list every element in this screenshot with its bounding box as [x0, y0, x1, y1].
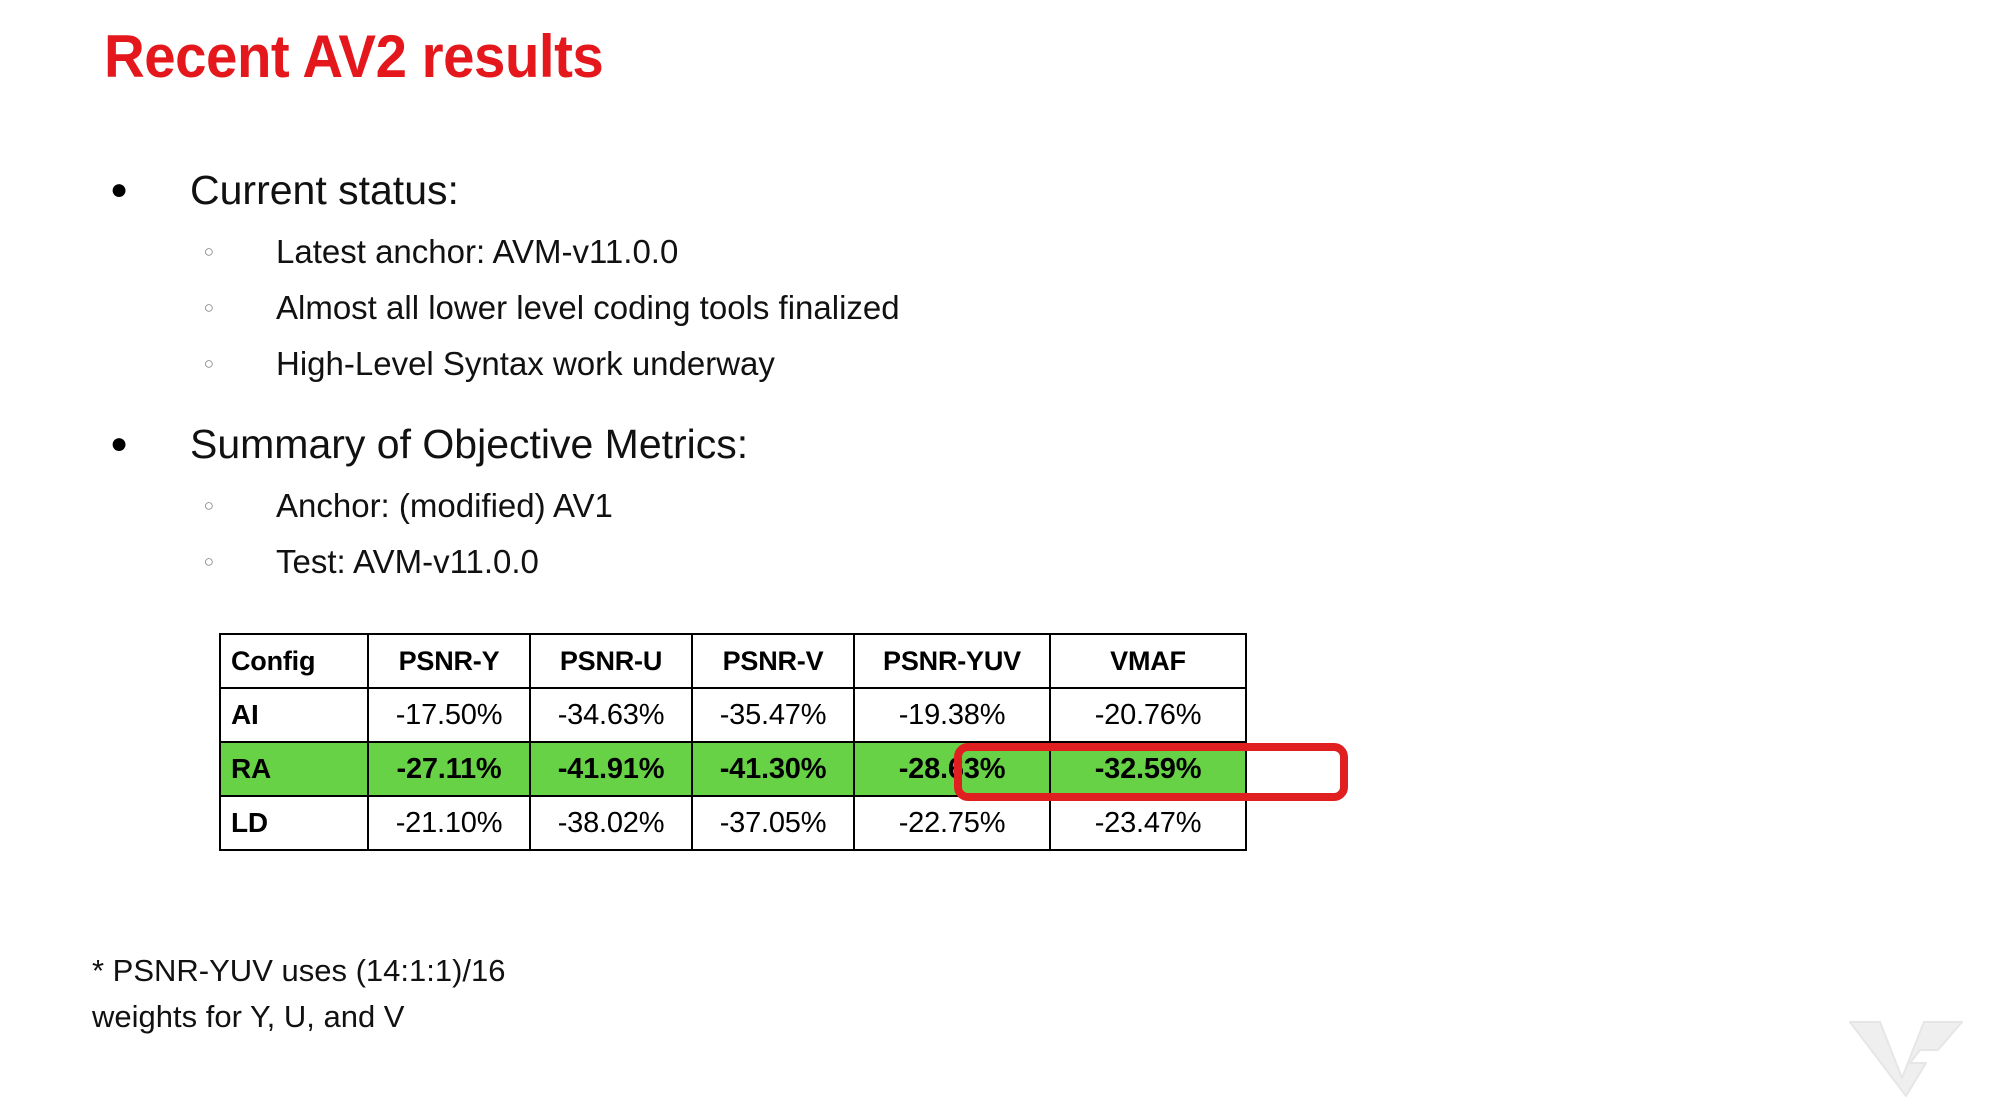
cell-ai-vmaf: -20.76%: [1050, 688, 1246, 742]
bullet-level2-test: ○ Test: AVM-v11.0.0: [104, 534, 1604, 590]
bullet-level2-label: Anchor: (modified) AV1: [214, 478, 613, 534]
cell-ld-psnr-u: -38.02%: [530, 796, 692, 850]
section-gap: [104, 392, 1604, 414]
verge-watermark-icon: [1846, 1016, 1966, 1102]
cell-ai-psnr-y: -17.50%: [368, 688, 530, 742]
cell-ai-psnr-yuv: -19.38%: [854, 688, 1050, 742]
bullet-circle-icon: ○: [104, 534, 214, 590]
bullet-level2-label: Almost all lower level coding tools fina…: [214, 280, 900, 336]
bullet-circle-icon: ○: [104, 336, 214, 392]
bullet-level2-latest-anchor: ○ Latest anchor: AVM-v11.0.0: [104, 224, 1604, 280]
column-header-psnr-v: PSNR-V: [692, 634, 854, 688]
bullet-level2-label: Latest anchor: AVM-v11.0.0: [214, 224, 678, 280]
bullet-disc-icon: ●: [104, 160, 130, 220]
cell-config-ra: RA: [220, 742, 368, 796]
cell-config-ld: LD: [220, 796, 368, 850]
cell-ai-psnr-v: -35.47%: [692, 688, 854, 742]
bullet-level2-anchor: ○ Anchor: (modified) AV1: [104, 478, 1604, 534]
cell-ra-psnr-v: -41.30%: [692, 742, 854, 796]
column-header-psnr-y: PSNR-Y: [368, 634, 530, 688]
footnote: * PSNR-YUV uses (14:1:1)/16 weights for …: [92, 948, 506, 1040]
cell-ai-psnr-u: -34.63%: [530, 688, 692, 742]
bullet-content: ● Current status: ○ Latest anchor: AVM-v…: [104, 160, 1604, 590]
footnote-line-2: weights for Y, U, and V: [92, 994, 506, 1040]
bullet-level2-coding-tools: ○ Almost all lower level coding tools fi…: [104, 280, 1604, 336]
cell-ld-psnr-yuv: -22.75%: [854, 796, 1050, 850]
column-header-config: Config: [220, 634, 368, 688]
cell-ra-psnr-y: -27.11%: [368, 742, 530, 796]
bullet-level1-current-status: ● Current status:: [104, 160, 1604, 220]
bullet-level2-label: High-Level Syntax work underway: [214, 336, 775, 392]
column-header-psnr-yuv: PSNR-YUV: [854, 634, 1050, 688]
bullet-circle-icon: ○: [104, 478, 214, 534]
footnote-line-1: * PSNR-YUV uses (14:1:1)/16: [92, 948, 506, 994]
table-row: AI -17.50% -34.63% -35.47% -19.38% -20.7…: [220, 688, 1246, 742]
bullet-level2-label: Test: AVM-v11.0.0: [214, 534, 539, 590]
cell-ld-vmaf: -23.47%: [1050, 796, 1246, 850]
bullet-level1-summary-metrics: ● Summary of Objective Metrics:: [104, 414, 1604, 474]
slide-canvas: Recent AV2 results ● Current status: ○ L…: [0, 0, 2000, 1114]
table-row-highlighted-ra: RA -27.11% -41.91% -41.30% -28.63% -32.5…: [220, 742, 1246, 796]
cell-ra-psnr-yuv: -28.63%: [854, 742, 1050, 796]
column-header-psnr-u: PSNR-U: [530, 634, 692, 688]
bullet-level1-label: Summary of Objective Metrics:: [130, 414, 748, 474]
results-table: Config PSNR-Y PSNR-U PSNR-V PSNR-YUV VMA…: [219, 633, 1247, 851]
bullet-circle-icon: ○: [104, 224, 214, 280]
table-header-row: Config PSNR-Y PSNR-U PSNR-V PSNR-YUV VMA…: [220, 634, 1246, 688]
cell-ra-psnr-u: -41.91%: [530, 742, 692, 796]
bullet-disc-icon: ●: [104, 414, 130, 474]
cell-ld-psnr-v: -37.05%: [692, 796, 854, 850]
bullet-level2-high-level-syntax: ○ High-Level Syntax work underway: [104, 336, 1604, 392]
cell-ra-vmaf: -32.59%: [1050, 742, 1246, 796]
bullet-level1-label: Current status:: [130, 160, 459, 220]
cell-ld-psnr-y: -21.10%: [368, 796, 530, 850]
page-title: Recent AV2 results: [104, 22, 603, 92]
column-header-vmaf: VMAF: [1050, 634, 1246, 688]
cell-config-ai: AI: [220, 688, 368, 742]
table-row: LD -21.10% -38.02% -37.05% -22.75% -23.4…: [220, 796, 1246, 850]
bullet-circle-icon: ○: [104, 280, 214, 336]
results-table-container: Config PSNR-Y PSNR-U PSNR-V PSNR-YUV VMA…: [219, 633, 1247, 851]
